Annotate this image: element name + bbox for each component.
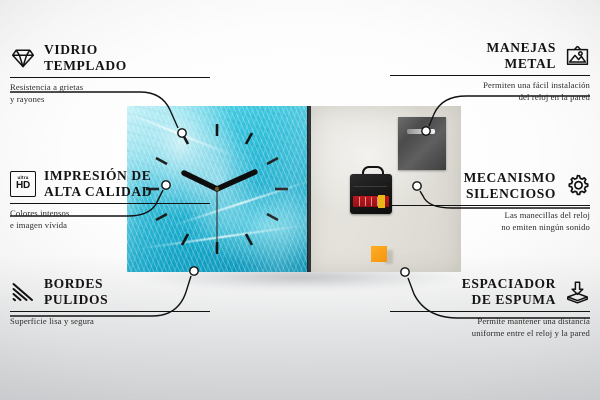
- callout-sub-line-2: y rayones: [10, 93, 220, 105]
- callout-title-line-2: ALTA CALIDAD: [44, 184, 152, 200]
- gear-icon: [564, 173, 590, 199]
- callout-sub-line-2: e imagen vívida: [10, 219, 220, 231]
- hd-badge-main-text: HD: [16, 181, 30, 191]
- callout-title-line-1: ESPACIADOR: [462, 276, 556, 292]
- ultra-hd-badge-icon: ultra HD: [10, 171, 36, 197]
- callout-subtitle: Resistencia a grietas y rayones: [10, 81, 220, 105]
- callout-title-line-2: PULIDOS: [44, 292, 108, 308]
- callout-title-line-1: IMPRESIÓN DE: [44, 168, 152, 184]
- callout-sub-line-2: no emiten ningún sonido: [380, 221, 590, 233]
- callout-sub-line-1: Permite mantener una distancia: [380, 315, 590, 327]
- callout-header: ultra HD IMPRESIÓN DE ALTA CALIDAD: [10, 168, 220, 200]
- callout-title: IMPRESIÓN DE ALTA CALIDAD: [44, 168, 152, 200]
- callout-rule: [390, 205, 590, 206]
- callout-title-line-2: TEMPLADO: [44, 58, 127, 74]
- callout-rule: [10, 311, 210, 312]
- hanger-slot: [407, 129, 435, 134]
- callout-rule: [10, 203, 210, 204]
- callout-header: VIDRIO TEMPLADO: [10, 42, 220, 74]
- callout-header: MECANISMO SILENCIOSO: [380, 170, 590, 202]
- foam-spacer: [371, 246, 387, 262]
- callout-title-line-1: BORDES: [44, 276, 108, 292]
- callout-espaciador-espuma[interactable]: ESPACIADOR DE ESPUMA Permite mantener un…: [380, 276, 590, 340]
- callout-vidrio-templado[interactable]: VIDRIO TEMPLADO Resistencia a grietas y …: [10, 42, 220, 106]
- callout-manejas-metal[interactable]: MANEJAS METAL Permiten una fácil instala…: [380, 40, 590, 104]
- callout-sub-line-1: Superficie lisa y segura: [10, 315, 220, 327]
- callout-title-line-1: MECANISMO: [464, 170, 556, 186]
- callout-sub-line-1: Resistencia a grietas: [10, 81, 220, 93]
- callout-title-line-2: DE ESPUMA: [462, 292, 556, 308]
- callout-title-line-2: METAL: [487, 56, 556, 72]
- callout-title-line-1: MANEJAS: [487, 40, 556, 56]
- callout-rule: [10, 77, 210, 78]
- callout-subtitle: Superficie lisa y segura: [10, 315, 220, 327]
- callout-rule: [390, 75, 590, 76]
- callout-header: MANEJAS METAL: [380, 40, 590, 72]
- diamond-icon: [10, 45, 36, 71]
- callout-title-line-1: VIDRIO: [44, 42, 127, 58]
- callout-sub-line-2: uniforme entre el reloj y la pared: [380, 327, 590, 339]
- arrow-down-onto-pad-icon: [564, 279, 590, 305]
- metal-hanger-plate: [398, 117, 446, 170]
- callout-title-line-2: SILENCIOSO: [464, 186, 556, 202]
- callout-sub-line-1: Las manecillas del reloj: [380, 209, 590, 221]
- callout-bordes-pulidos[interactable]: BORDES PULIDOS Superficie lisa y segura: [10, 276, 220, 327]
- callout-title: VIDRIO TEMPLADO: [44, 42, 127, 74]
- callout-subtitle: Permite mantener una distancia uniforme …: [380, 315, 590, 339]
- callout-header: ESPACIADOR DE ESPUMA: [380, 276, 590, 308]
- callout-sub-line-1: Permiten una fácil instalación: [380, 79, 590, 91]
- callout-mecanismo-silencioso[interactable]: MECANISMO SILENCIOSO Las manecillas del …: [380, 170, 590, 234]
- callout-subtitle: Las manecillas del reloj no emiten ningú…: [380, 209, 590, 233]
- callout-title: MECANISMO SILENCIOSO: [464, 170, 556, 202]
- callout-title: ESPACIADOR DE ESPUMA: [462, 276, 556, 308]
- callout-header: BORDES PULIDOS: [10, 276, 220, 308]
- callout-title: BORDES PULIDOS: [44, 276, 108, 308]
- callout-sub-line-2: del reloj en la pared: [380, 91, 590, 103]
- callout-subtitle: Permiten una fácil instalación del reloj…: [380, 79, 590, 103]
- callout-sub-line-1: Colores intensos: [10, 207, 220, 219]
- callout-title: MANEJAS METAL: [487, 40, 556, 72]
- infographic-canvas: VIDRIO TEMPLADO Resistencia a grietas y …: [0, 0, 600, 400]
- callout-subtitle: Colores intensos e imagen vívida: [10, 207, 220, 231]
- hanging-frame-icon: [564, 43, 590, 69]
- callout-rule: [390, 311, 590, 312]
- callout-impresion-alta-calidad[interactable]: ultra HD IMPRESIÓN DE ALTA CALIDAD Color…: [10, 168, 220, 232]
- diagonal-stripes-icon: [10, 279, 36, 305]
